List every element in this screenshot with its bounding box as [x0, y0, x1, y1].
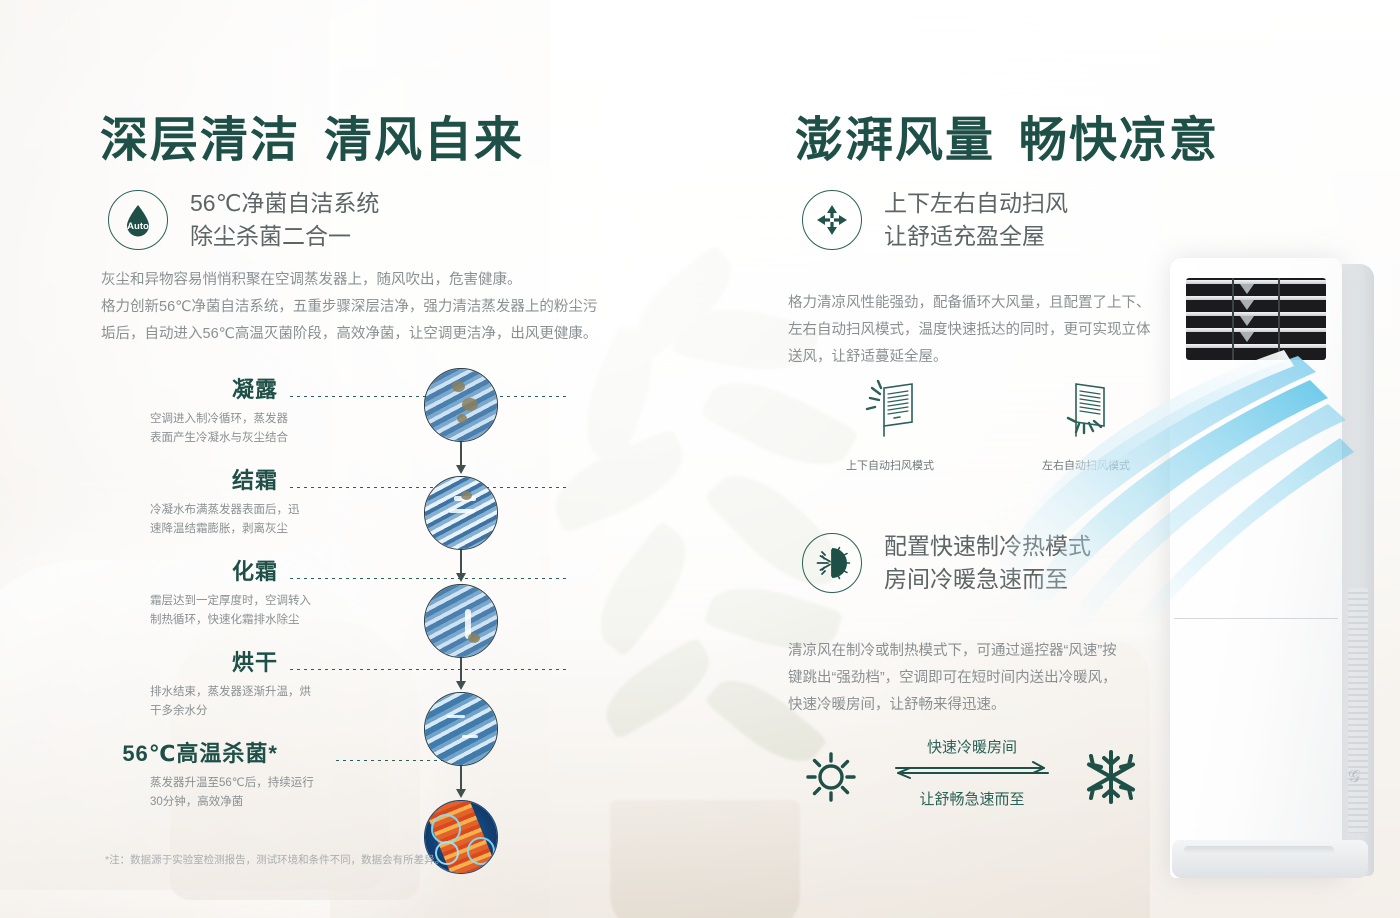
four-direction-arrows-icon — [802, 190, 862, 250]
step-description: 冷凝水布满蒸发器表面后，迅 速降温结霜膨胀，剥离灰尘 — [150, 501, 570, 539]
step-title: 烘干 — [150, 645, 278, 677]
sun-snowflake-icon — [802, 533, 862, 593]
step-item: 烘干 排水结束，蒸发器逐渐升温，烘 干多余水分 — [150, 645, 570, 736]
hot-cold-bottom-label: 让舒畅急速而至 — [892, 788, 1052, 809]
ac-brand-logo: 𝒢 — [1348, 764, 1366, 790]
self-clean-steps-list: 凝露 空调进入制冷循环，蒸发器 表面产生冷凝水与灰尘结合 结霜 冷凝水布满蒸发器… — [150, 372, 570, 827]
left-feature-line1: 56℃净菌自洁系统 — [190, 190, 379, 216]
right-title-part2: 畅快凉意 — [1019, 114, 1219, 167]
step-desc-line-2: 表面产生冷凝水与灰尘结合 — [150, 429, 570, 448]
marketing-page: 深层清洁清风自来 Auto 56℃净菌自洁系统 除尘杀菌二合一 灰尘和异物容易悄… — [0, 0, 1400, 918]
right-title-part1: 澎湃风量 — [795, 114, 995, 167]
right-feature2-text: 配置快速制冷热模式 房间冷暖急速而至 — [884, 530, 1091, 596]
right-paragraph1-line-1: 格力清凉风性能强劲，配备循环大风量，且配置了上下、 — [788, 290, 1151, 317]
flow-arrow-down-icon — [453, 658, 469, 692]
step-desc-line-2: 30分钟，高效净菌 — [150, 793, 570, 812]
left-paragraph-line-2: 格力创新56℃净菌自洁系统，五重步骤深层洁净，强力清洁蒸发器上的粉尘污 — [101, 294, 597, 321]
left-column: 深层清洁清风自来 Auto 56℃净菌自洁系统 除尘杀菌二合一 灰尘和异物容易悄… — [0, 0, 700, 918]
left-footnote: *注：数据源于实验室检测报告，测试环境和条件不同，数据会有所差异。 — [105, 852, 445, 867]
hot-cold-transfer-row: 快速冷暖房间 让舒畅急速而至 — [800, 736, 1140, 814]
right-feature1-text: 上下左右自动扫风 让舒适充盈全屋 — [884, 187, 1068, 253]
step-desc-line-2: 制热循环，快速化霜排水除尘 — [150, 611, 570, 630]
swing-mode-vertical-caption: 上下自动扫风模式 — [838, 457, 942, 473]
right-paragraph2-line-2: 键跳出“强劲档”，空调即可在短时间内送出冷暖风， — [788, 665, 1117, 692]
snowflake-icon — [1080, 746, 1142, 808]
left-page-title: 深层清洁清风自来 — [100, 100, 524, 170]
step-item: 56℃高温杀菌* 蒸发器升温至56℃后，持续运行 30分钟，高效净菌 — [150, 736, 570, 827]
flow-arrow-down-icon — [453, 550, 469, 584]
right-feature2-line1: 配置快速制冷热模式 — [884, 533, 1091, 559]
evaporator-frost-thumb — [424, 476, 498, 550]
left-feature-row: Auto 56℃净菌自洁系统 除尘杀菌二合一 — [108, 187, 379, 253]
step-desc-line-1: 排水结束，蒸发器逐渐升温，烘 — [150, 683, 570, 702]
hot-cold-arrow-labels: 快速冷暖房间 让舒畅急速而至 — [892, 736, 1052, 809]
right-feature2-row: 配置快速制冷热模式 房间冷暖急速而至 — [802, 530, 1091, 596]
step-item: 化霜 霜层达到一定厚度时，空调转入 制热循环，快速化霜排水除尘 — [150, 554, 570, 645]
ac-base-slot — [1184, 846, 1334, 854]
left-feature-text: 56℃净菌自洁系统 除尘杀菌二合一 — [190, 187, 379, 253]
hot-cold-top-label: 快速冷暖房间 — [892, 736, 1052, 757]
step-desc-line-2: 速降温结霜膨胀，剥离灰尘 — [150, 520, 570, 539]
right-page-title: 澎湃风量畅快凉意 — [795, 100, 1219, 170]
left-paragraph: 灰尘和异物容易悄悄积聚在空调蒸发器上，随风吹出，危害健康。 格力创新56℃净菌自… — [101, 267, 597, 348]
step-desc-line-1: 蒸发器升温至56℃后，持续运行 — [150, 774, 570, 793]
right-feature2-line2: 房间冷暖急速而至 — [884, 563, 1091, 596]
step-desc-line-1: 空调进入制冷循环，蒸发器 — [150, 410, 570, 429]
ac-panel-seam — [1174, 618, 1338, 619]
right-paragraph1-line-2: 左右自动扫风模式，温度快速抵达的同时，更可实现立体 — [788, 317, 1151, 344]
left-title-part1: 深层清洁 — [100, 114, 300, 167]
svg-text:Auto: Auto — [127, 221, 149, 232]
step-item: 结霜 冷凝水布满蒸发器表面后，迅 速降温结霜膨胀，剥离灰尘 — [150, 463, 570, 554]
self-clean-thumbnails — [415, 368, 507, 874]
step-description: 蒸发器升温至56℃后，持续运行 30分钟，高效净菌 — [150, 774, 570, 812]
flow-arrow-down-icon — [453, 766, 469, 800]
right-feature1-line2: 让舒适充盈全屋 — [884, 220, 1068, 253]
swing-mode-vertical: 上下自动扫风模式 — [838, 378, 942, 473]
step-title: 56℃高温杀菌* — [108, 736, 278, 768]
sun-icon — [800, 748, 862, 806]
step-title: 结霜 — [150, 463, 278, 495]
step-title: 化霜 — [150, 554, 278, 586]
ac-side-vent — [1348, 588, 1368, 833]
right-paragraph1-line-3: 送风，让舒适蔓延全屋。 — [788, 344, 1151, 371]
evaporator-condensation-dust-thumb — [424, 368, 498, 442]
left-feature-line2: 除尘杀菌二合一 — [190, 220, 379, 253]
swing-mode-horizontal-caption: 左右自动扫风模式 — [1034, 457, 1138, 473]
right-paragraph2-line-3: 快速冷暖房间，让舒畅来得迅速。 — [788, 692, 1117, 719]
ac-air-outlet-louvers — [1186, 278, 1326, 360]
swing-mode-horizontal: 左右自动扫风模式 — [1034, 378, 1138, 473]
right-paragraph2-line-1: 清凉风在制冷或制热模式下，可通过遥控器“风速”按 — [788, 638, 1117, 665]
evaporator-defrost-thumb — [424, 584, 498, 658]
evaporator-dry-thumb — [424, 692, 498, 766]
step-item: 凝露 空调进入制冷循环，蒸发器 表面产生冷凝水与灰尘结合 — [150, 372, 570, 463]
floor-standing-air-conditioner: 𝒢 — [1170, 258, 1380, 898]
right-feature1-line1: 上下左右自动扫风 — [884, 190, 1068, 216]
right-feature1-row: 上下左右自动扫风 让舒适充盈全屋 — [802, 187, 1068, 253]
left-paragraph-line-1: 灰尘和异物容易悄悄积聚在空调蒸发器上，随风吹出，危害健康。 — [101, 267, 597, 294]
flow-arrow-down-icon — [453, 442, 469, 476]
step-description: 排水结束，蒸发器逐渐升温，烘 干多余水分 — [150, 683, 570, 721]
swing-modes-row: 上下自动扫风模式 — [838, 378, 1138, 473]
right-paragraph-2: 清凉风在制冷或制热模式下，可通过遥控器“风速”按 键跳出“强劲档”，空调即可在短… — [788, 638, 1117, 719]
step-title: 凝露 — [150, 372, 278, 404]
right-paragraph-1: 格力清凉风性能强劲，配备循环大风量，且配置了上下、 左右自动扫风模式，温度快速抵… — [788, 290, 1151, 371]
left-paragraph-line-3: 垢后，自动进入56℃高温灭菌阶段，高效净菌，让空调更洁净，出风更健康。 — [101, 321, 597, 348]
left-title-part2: 清风自来 — [324, 114, 524, 167]
step-description: 霜层达到一定厚度时，空调转入 制热循环，快速化霜排水除尘 — [150, 592, 570, 630]
bidirectional-arrow-icon — [892, 759, 1052, 781]
auto-water-drop-icon: Auto — [108, 190, 168, 250]
step-description: 空调进入制冷循环，蒸发器 表面产生冷凝水与灰尘结合 — [150, 410, 570, 448]
step-desc-line-2: 干多余水分 — [150, 702, 570, 721]
step-desc-line-1: 冷凝水布满蒸发器表面后，迅 — [150, 501, 570, 520]
step-desc-line-1: 霜层达到一定厚度时，空调转入 — [150, 592, 570, 611]
